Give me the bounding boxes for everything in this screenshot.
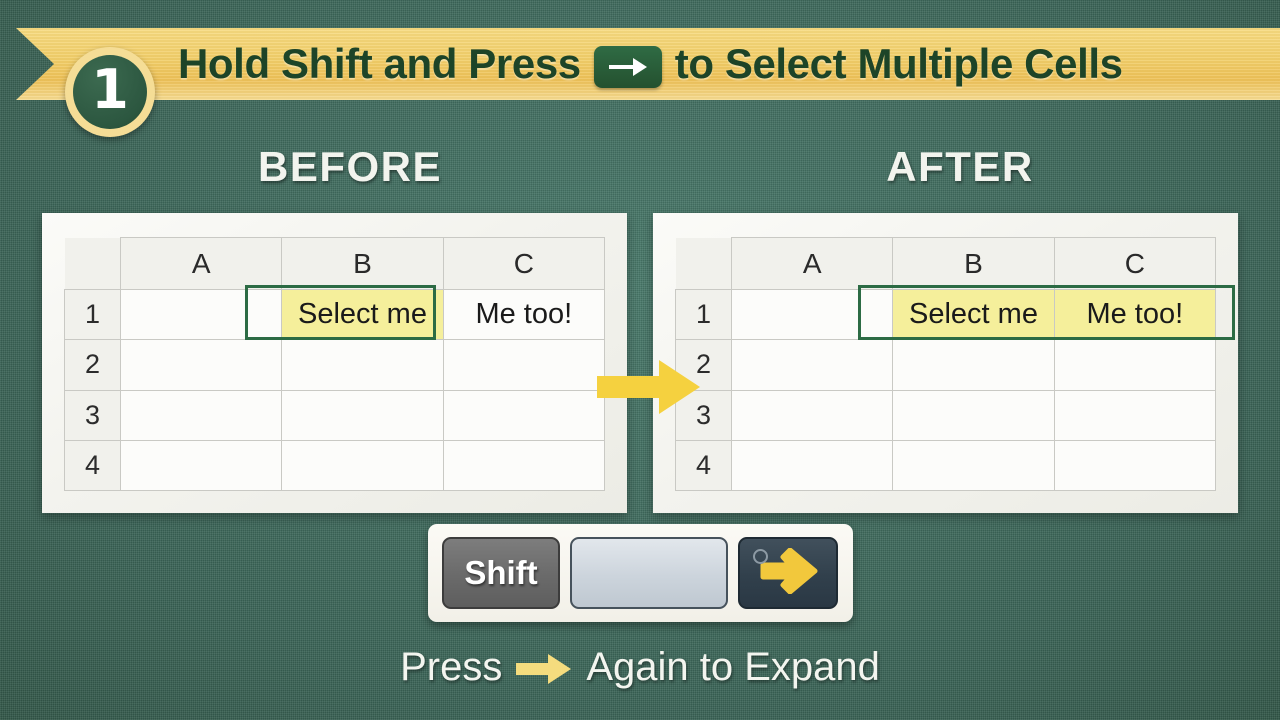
before-corner-cell [65,238,121,290]
table-row: 4 [65,440,605,490]
keyboard-tray: Shift [428,524,853,622]
after-cell-b2[interactable] [893,340,1054,390]
blank-key[interactable] [570,537,728,609]
before-cell-c3[interactable] [443,390,604,440]
before-cell-b3[interactable] [282,390,443,440]
after-cell-b3[interactable] [893,390,1054,440]
after-cell-b4[interactable] [893,440,1054,490]
before-spreadsheet-card: A B C 1 Select me Me too! 2 3 [42,213,627,513]
table-row: 2 [676,340,1216,390]
shift-key[interactable]: Shift [442,537,560,609]
right-arrow-key[interactable] [738,537,838,609]
table-row: 2 [65,340,605,390]
table-row: 4 [676,440,1216,490]
after-col-header-a[interactable]: A [732,238,893,290]
after-cell-a4[interactable] [732,440,893,490]
footer-hint: Press Again to Expand [0,645,1280,690]
after-header-row: A B C [676,238,1216,290]
step-number-badge: 1 [65,47,155,137]
before-cell-a4[interactable] [121,440,282,490]
after-corner-cell [676,238,732,290]
after-table-body: 1 Select me Me too! 2 3 4 [676,290,1216,491]
table-row: 3 [676,390,1216,440]
after-col-header-c[interactable]: C [1054,238,1215,290]
before-row-header-3[interactable]: 3 [65,390,121,440]
before-cell-b2[interactable] [282,340,443,390]
table-row: 3 [65,390,605,440]
banner-title: Hold Shift and Press to Select Multiple … [178,28,1123,100]
before-cell-c1[interactable]: Me too! [443,290,604,340]
before-table-body: 1 Select me Me too! 2 3 4 [65,290,605,491]
after-cell-c4[interactable] [1054,440,1215,490]
after-col-header-b[interactable]: B [893,238,1054,290]
table-row: 1 Select me Me too! [65,290,605,340]
after-cell-c3[interactable] [1054,390,1215,440]
before-row-header-1[interactable]: 1 [65,290,121,340]
after-cell-c2[interactable] [1054,340,1215,390]
yellow-right-arrow-icon [516,645,572,690]
step-number-label: 1 [73,55,147,129]
banner-title-part-2: to Select Multiple Cells [675,40,1123,88]
before-cell-b4[interactable] [282,440,443,490]
after-cell-a3[interactable] [732,390,893,440]
before-spreadsheet-table: A B C 1 Select me Me too! 2 3 [64,237,605,491]
footer-text-part-2: Again to Expand [586,645,880,690]
before-cell-c4[interactable] [443,440,604,490]
table-row: 1 Select me Me too! [676,290,1216,340]
after-cell-a2[interactable] [732,340,893,390]
after-row-header-1[interactable]: 1 [676,290,732,340]
arrow-right-icon [594,46,662,88]
after-spreadsheet-card: A B C 1 Select me Me too! 2 3 [653,213,1238,513]
key-indicator-dot-icon [753,549,768,564]
before-col-header-a[interactable]: A [121,238,282,290]
shift-key-label: Shift [464,554,537,592]
after-table-head: A B C [676,238,1216,290]
after-cell-c1[interactable]: Me too! [1054,290,1215,340]
before-panel-label: BEFORE [180,143,520,191]
before-cell-a3[interactable] [121,390,282,440]
banner-title-part-1: Hold Shift and Press [178,40,581,88]
before-table-head: A B C [65,238,605,290]
before-row-header-4[interactable]: 4 [65,440,121,490]
after-cell-a1[interactable] [732,290,893,340]
before-col-header-c[interactable]: C [443,238,604,290]
footer-text-part-1: Press [400,645,502,690]
yellow-right-arrow-icon [597,358,701,416]
before-col-header-b[interactable]: B [282,238,443,290]
after-panel-label: AFTER [790,143,1130,191]
before-cell-b1[interactable]: Select me [282,290,443,340]
before-cell-c2[interactable] [443,340,604,390]
before-row-header-2[interactable]: 2 [65,340,121,390]
after-row-header-4[interactable]: 4 [676,440,732,490]
before-cell-a2[interactable] [121,340,282,390]
after-cell-b1[interactable]: Select me [893,290,1054,340]
before-cell-a1[interactable] [121,290,282,340]
title-banner: 1 Hold Shift and Press to Select Multipl… [0,28,1280,100]
after-spreadsheet-table: A B C 1 Select me Me too! 2 3 [675,237,1216,491]
before-header-row: A B C [65,238,605,290]
